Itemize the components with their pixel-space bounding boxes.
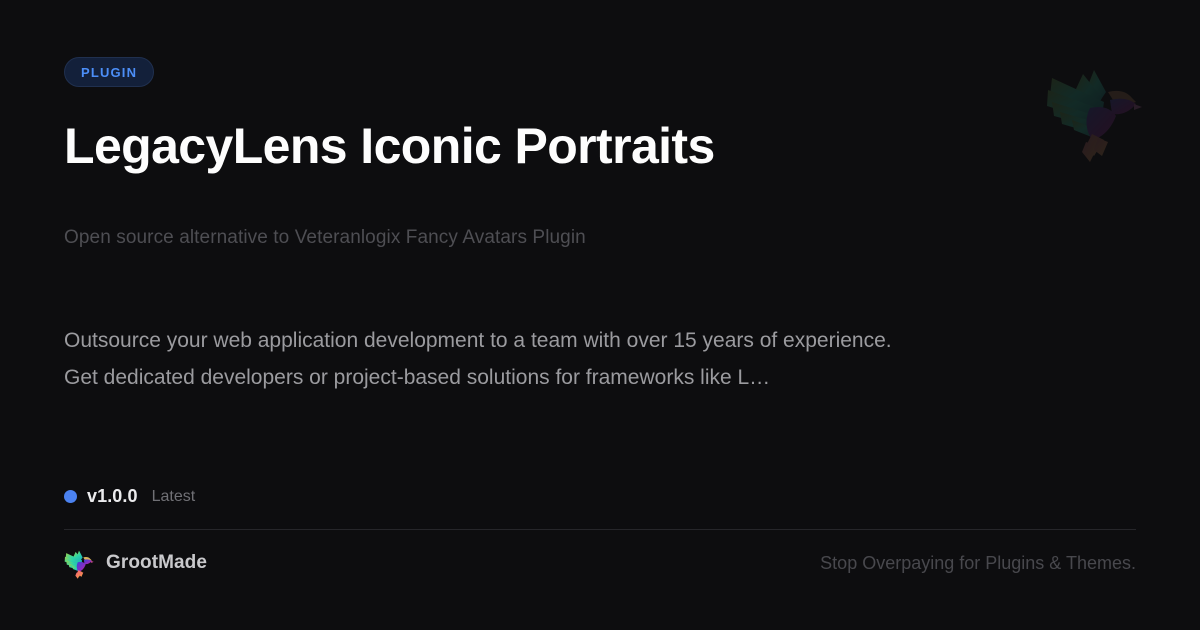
brand-name: GrootMade — [106, 552, 207, 574]
hummingbird-logo-icon — [1046, 58, 1142, 163]
plugin-badge: PLUGIN — [64, 57, 154, 87]
version-number: v1.0.0 — [87, 486, 138, 507]
footer-divider — [64, 529, 1136, 530]
page-subtitle: Open source alternative to Veteranlogix … — [64, 225, 586, 252]
footer-brand: GrootMade — [64, 547, 207, 579]
hummingbird-logo-icon — [64, 547, 94, 579]
description-text: Outsource your web application developme… — [64, 322, 914, 396]
version-row: v1.0.0 Latest — [64, 486, 195, 507]
version-latest-badge: Latest — [152, 488, 196, 506]
status-dot-icon — [64, 490, 77, 503]
page-title: LegacyLens Iconic Portraits — [64, 118, 715, 174]
og-card: PLUGIN LegacyLens Iconic Portraits Open … — [0, 0, 1200, 630]
footer: GrootMade Stop Overpaying for Plugins & … — [64, 546, 1136, 580]
footer-tagline: Stop Overpaying for Plugins & Themes. — [820, 553, 1136, 574]
